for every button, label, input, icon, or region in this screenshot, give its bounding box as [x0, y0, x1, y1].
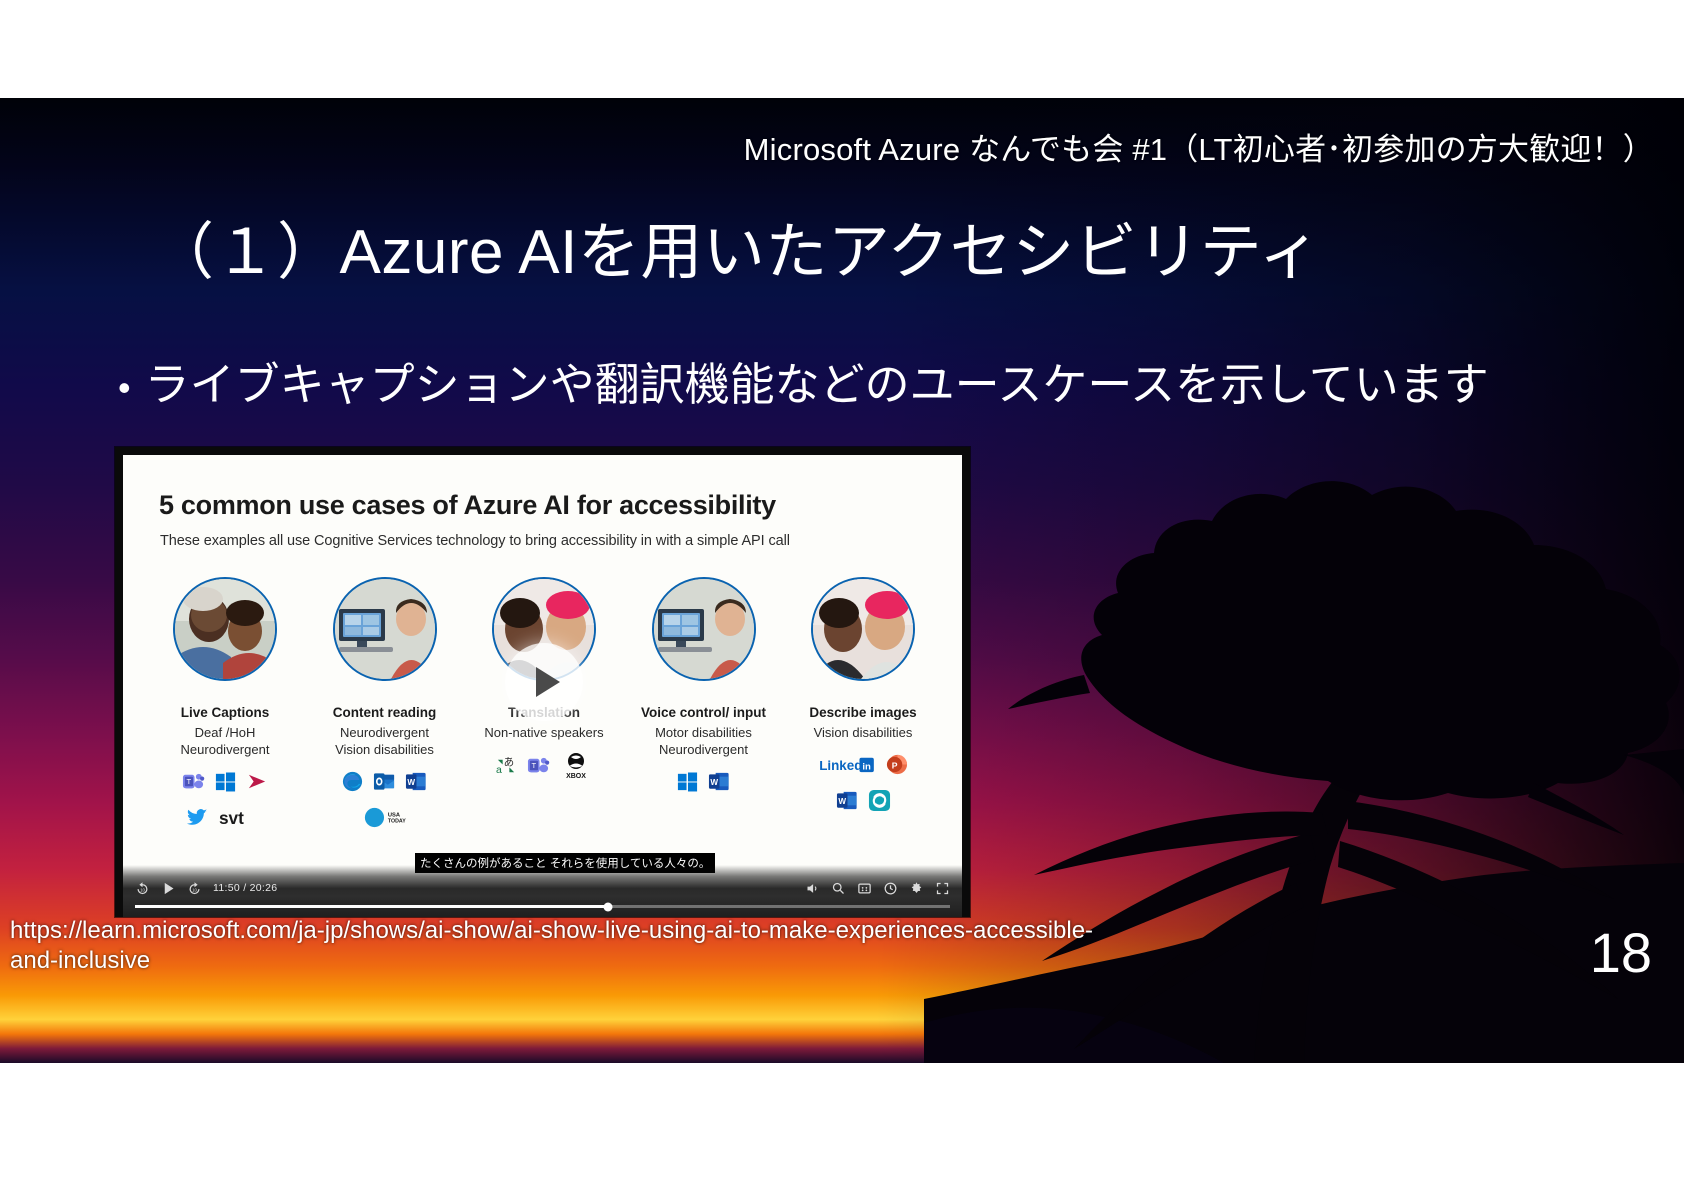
- video-slide-heading: 5 common use cases of Azure AI for acces…: [159, 490, 776, 521]
- source-url[interactable]: https://learn.microsoft.com/ja-jp/shows/…: [10, 916, 1110, 976]
- settings-gear-icon[interactable]: [909, 881, 924, 896]
- svg-text:in: in: [862, 761, 871, 772]
- svg-text:a: a: [496, 764, 502, 776]
- usa-today-logo: USATODAY: [363, 806, 407, 829]
- presentation-slide: Microsoft Azure なんでも会 #1（LT初心者･初参加の方大歓迎！…: [0, 98, 1684, 1063]
- word-icon: W: [708, 770, 731, 793]
- bullet-marker-icon: •: [118, 370, 131, 406]
- word-icon: W: [836, 789, 859, 812]
- replay-10-icon[interactable]: 10: [135, 881, 150, 896]
- teams-icon: T: [527, 754, 550, 777]
- video-control-row[interactable]: 10 10 11:50 / 20:26: [123, 877, 962, 899]
- svg-text:svt: svt: [219, 808, 244, 828]
- use-case-description: Deaf /HoHNeurodivergent: [181, 725, 270, 758]
- svg-text:W: W: [710, 778, 718, 787]
- word-icon: W: [405, 770, 428, 793]
- svg-text:10: 10: [192, 887, 197, 892]
- play-triangle-icon: [536, 667, 560, 697]
- use-case-icon-row-2: svt: [186, 804, 264, 830]
- quality-icon[interactable]: [857, 881, 872, 896]
- use-case-label: Voice control/ input: [641, 705, 766, 720]
- avatar: [811, 577, 915, 681]
- svg-text:Linked: Linked: [819, 758, 862, 773]
- use-case-label: Describe images: [809, 705, 916, 720]
- use-case-icon-row: Linkedin P: [818, 752, 908, 778]
- translator-icon: aあ: [495, 754, 518, 777]
- forward-10-icon[interactable]: 10: [187, 881, 202, 896]
- use-case-column: Translation Non-native speakers aあ T XBO…: [468, 577, 620, 877]
- use-case-icon-row: W: [676, 768, 731, 794]
- page-title: （１）Azure AIを用いたアクセシビリティ: [152, 201, 1321, 291]
- page-number: 18: [1590, 920, 1652, 985]
- use-case-label: Live Captions: [181, 705, 270, 720]
- bullet-text: ライブキャプションや翻訳機能などのユースケースを示しています: [145, 348, 1489, 413]
- playback-speed-icon[interactable]: [883, 881, 898, 896]
- video-progress-bar[interactable]: [135, 905, 950, 908]
- svg-text:XBOX: XBOX: [566, 773, 586, 780]
- windows-icon: [214, 770, 237, 793]
- svg-text:T: T: [532, 761, 537, 770]
- use-case-icon-row: W: [341, 768, 428, 794]
- svg-text:あ: あ: [504, 757, 515, 769]
- use-case-icon-row: aあ T XBOX: [495, 752, 593, 780]
- avatar: [173, 577, 277, 681]
- xbox-icon: XBOX: [559, 752, 593, 780]
- linkedin-icon: Linkedin: [818, 753, 876, 776]
- svg-text:W: W: [407, 778, 415, 787]
- windows-icon: [676, 770, 699, 793]
- svg-text:T: T: [186, 777, 191, 786]
- use-case-description: Motor disabilitiesNeurodivergent: [655, 725, 752, 758]
- video-frame[interactable]: 5 common use cases of Azure AI for acces…: [123, 455, 962, 917]
- volume-icon[interactable]: [805, 881, 820, 896]
- use-case-column: Voice control/ input Motor disabilitiesN…: [628, 577, 780, 877]
- powerpoint-icon: P: [885, 753, 908, 776]
- use-case-column: Content reading NeurodivergentVision dis…: [309, 577, 461, 877]
- video-progress-knob[interactable]: [603, 902, 612, 911]
- search-icon[interactable]: [831, 881, 846, 896]
- use-case-column: Describe images Vision disabilities Link…: [787, 577, 939, 877]
- video-control-bar[interactable]: 10 10 11:50 / 20:26: [123, 865, 962, 917]
- twitter-icon: [186, 806, 209, 829]
- embedded-video-player[interactable]: 5 common use cases of Azure AI for acces…: [115, 447, 970, 917]
- use-case-column: Live Captions Deaf /HoHNeurodivergent T …: [149, 577, 301, 877]
- video-progress-fill: [135, 905, 608, 908]
- stream-icon: [246, 770, 269, 793]
- use-case-columns: Live Captions Deaf /HoHNeurodivergent T …: [149, 577, 939, 877]
- avatar: [652, 577, 756, 681]
- slide-header-text: Microsoft Azure なんでも会 #1（LT初心者･初参加の方大歓迎！…: [744, 124, 1654, 169]
- use-case-icon-row-2: W: [836, 788, 891, 814]
- play-icon[interactable]: [161, 881, 176, 896]
- avatar: [333, 577, 437, 681]
- slide-page: Microsoft Azure なんでも会 #1（LT初心者･初参加の方大歓迎！…: [0, 0, 1684, 1191]
- use-case-label: Content reading: [333, 705, 437, 720]
- svg-text:W: W: [838, 797, 846, 806]
- svg-text:P: P: [892, 760, 898, 770]
- play-button[interactable]: [505, 643, 583, 721]
- edge-icon: [341, 770, 364, 793]
- fullscreen-icon[interactable]: [935, 881, 950, 896]
- use-case-description: Vision disabilities: [814, 725, 913, 742]
- use-case-description: Non-native speakers: [484, 725, 603, 742]
- use-case-icon-row: T: [182, 768, 269, 794]
- outlook-icon: [373, 770, 396, 793]
- seeing-ai-icon: [868, 789, 891, 812]
- video-slide-subheading: These examples all use Cognitive Service…: [160, 533, 790, 549]
- svg-text:TODAY: TODAY: [387, 818, 405, 824]
- svg-text:10: 10: [140, 887, 145, 892]
- use-case-icon-row-2: USATODAY: [363, 804, 407, 830]
- video-time-display: 11:50 / 20:26: [213, 882, 277, 894]
- bullet-line: • ライブキャプションや翻訳機能などのユースケースを示しています: [118, 348, 1489, 413]
- teams-icon: T: [182, 770, 205, 793]
- use-case-description: NeurodivergentVision disabilities: [335, 725, 434, 758]
- svt-logo: svt: [218, 806, 264, 829]
